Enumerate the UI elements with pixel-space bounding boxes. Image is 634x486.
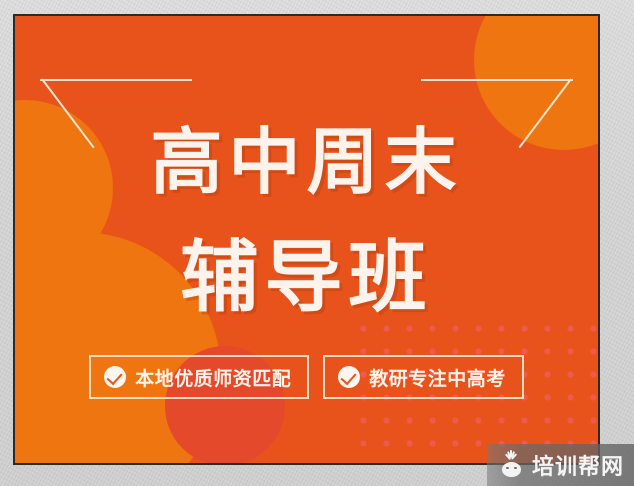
watermark-text: 培训帮网 [532,449,624,481]
feature-badge-row: 本地优质师资匹配 教研专注中高考 [15,355,598,399]
promo-poster: 高中周末 辅导班 本地优质师资匹配 教研专注中高考 [13,14,600,465]
page-canvas: 高中周末 辅导班 本地优质师资匹配 教研专注中高考 培训帮网 [0,0,634,486]
poster-headline-line-2: 辅导班 [15,234,598,322]
decorative-rule-top-right [421,79,573,81]
watermark: 培训帮网 [487,444,634,486]
poster-headline-line-1: 高中周末 [15,121,598,203]
sun-face-logo-icon [499,453,524,478]
feature-badge-teachers: 本地优质师资匹配 [89,355,309,399]
check-circle-icon [338,366,360,388]
feature-badge-research: 教研专注中高考 [323,355,524,399]
check-circle-icon [104,366,126,388]
feature-badge-label: 本地优质师资匹配 [135,364,291,391]
decorative-rule-top-left [40,79,192,81]
feature-badge-label: 教研专注中高考 [369,364,506,391]
